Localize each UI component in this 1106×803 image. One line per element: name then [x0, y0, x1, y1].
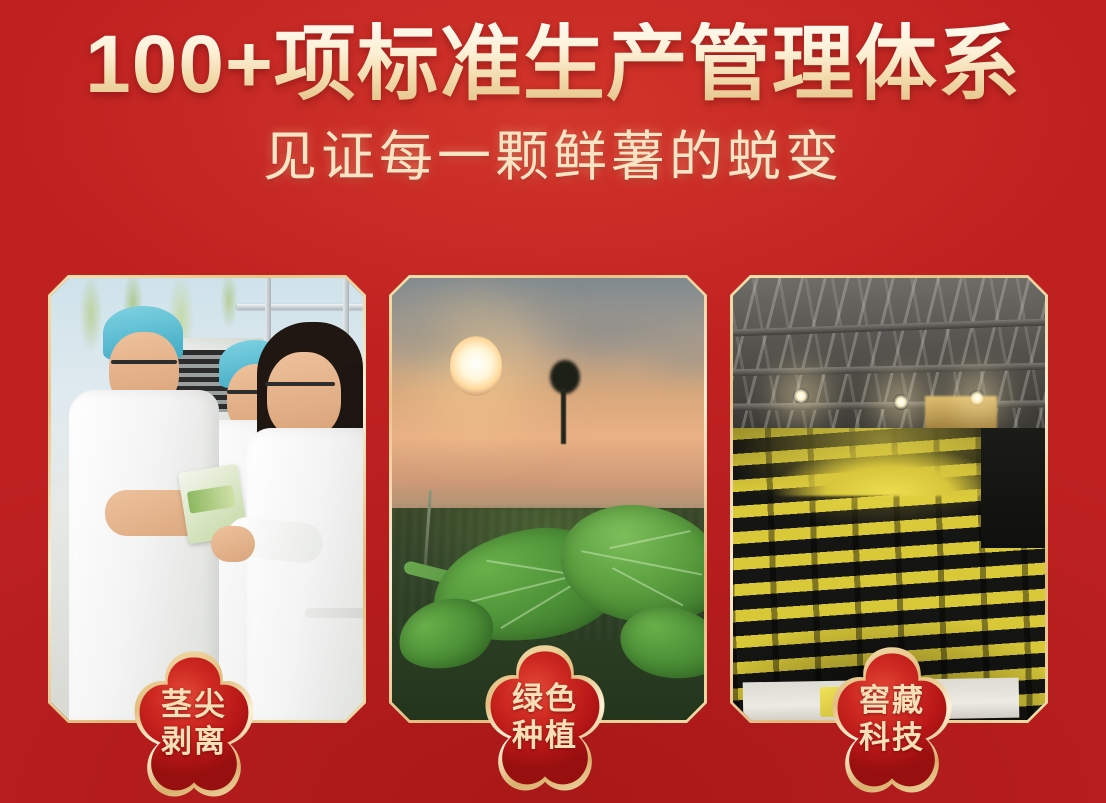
badge-label: 绿色 种植: [475, 643, 615, 793]
researcher-head: [267, 352, 341, 438]
lab-coat: [247, 428, 363, 720]
feature-card-row: 茎尖 剥离: [48, 275, 1048, 723]
badge-green-planting[interactable]: 绿色 种植: [475, 643, 615, 793]
badge-label-line-2: 科技: [859, 721, 925, 756]
badge-label-line-1: 茎尖: [161, 688, 227, 723]
badge-label: 窖藏 科技: [822, 645, 962, 795]
page-subtitle: 见证每一颗鲜薯的蜕变: [263, 128, 843, 187]
feature-card-stem-tip-isolation[interactable]: 茎尖 剥离: [48, 275, 366, 723]
glasses-icon: [265, 382, 335, 386]
badge-label-line-1: 绿色: [512, 682, 578, 717]
sun-icon: [450, 336, 502, 396]
distant-tree: [542, 360, 588, 442]
badge-label-line-2: 剥离: [161, 725, 227, 760]
ceiling-lamp-icon: [893, 394, 909, 410]
promo-poster: 100+项标准生产管理体系 见证每一颗鲜薯的蜕变: [0, 0, 1106, 803]
badge-cellar-storage[interactable]: 窖藏 科技: [822, 645, 962, 795]
leaf-vein: [612, 567, 683, 606]
leaf-vein: [581, 550, 702, 575]
ceiling-lamp-icon: [793, 388, 809, 404]
badge-label: 茎尖 剥离: [124, 649, 264, 799]
leaf-vein: [487, 560, 573, 576]
badge-label-line-2: 种植: [512, 719, 578, 754]
ceiling-lamp-icon: [969, 390, 985, 406]
feature-card-green-planting[interactable]: 绿色 种植: [389, 275, 707, 723]
glasses-icon: [111, 360, 177, 364]
page-title: 100+项标准生产管理体系: [85, 22, 1021, 109]
subtitle-container: 见证每一颗鲜薯的蜕变: [0, 128, 1106, 187]
leaf-vein: [610, 531, 692, 550]
feature-card-cellar-storage[interactable]: 窖藏 科技: [730, 275, 1048, 723]
badge-label-line-1: 窖藏: [859, 684, 925, 719]
researcher-hand: [211, 526, 255, 562]
badge-stem-tip-isolation[interactable]: 茎尖 剥离: [124, 649, 264, 799]
lab-coat-belt: [305, 608, 363, 618]
headline-container: 100+项标准生产管理体系: [0, 22, 1106, 109]
warehouse-dark-area: [981, 428, 1045, 548]
